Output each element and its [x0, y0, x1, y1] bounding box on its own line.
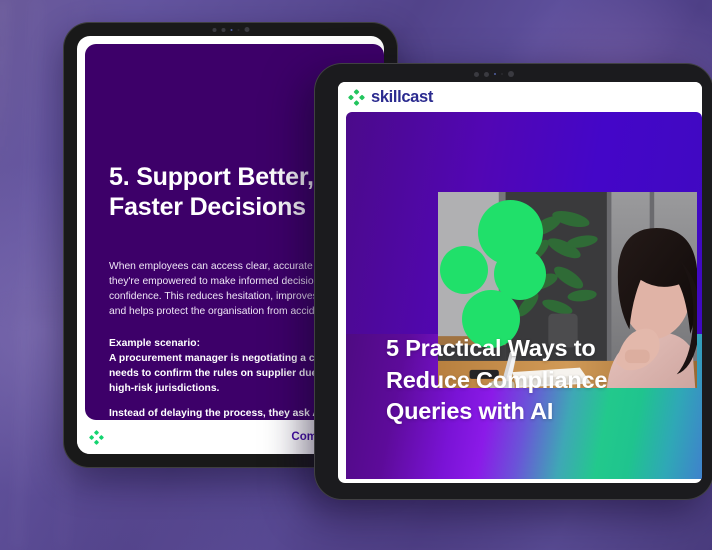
clover-blob-left	[440, 246, 488, 294]
camera-dots-icon	[212, 27, 249, 32]
cover-title: 5 Practical Ways to Reduce Compliance Qu…	[386, 333, 690, 427]
skillcast-clover-icon	[89, 430, 104, 445]
tablet-front-screen: skillcast	[338, 82, 702, 483]
brand-wordmark: skillcast	[371, 88, 433, 107]
camera-dots-icon	[474, 71, 514, 77]
front-cover-card: 5 Practical Ways to Reduce Compliance Qu…	[346, 112, 702, 479]
front-brand-header: skillcast	[338, 82, 702, 112]
skillcast-clover-icon	[348, 89, 365, 106]
tablet-front-device: skillcast	[314, 63, 712, 500]
